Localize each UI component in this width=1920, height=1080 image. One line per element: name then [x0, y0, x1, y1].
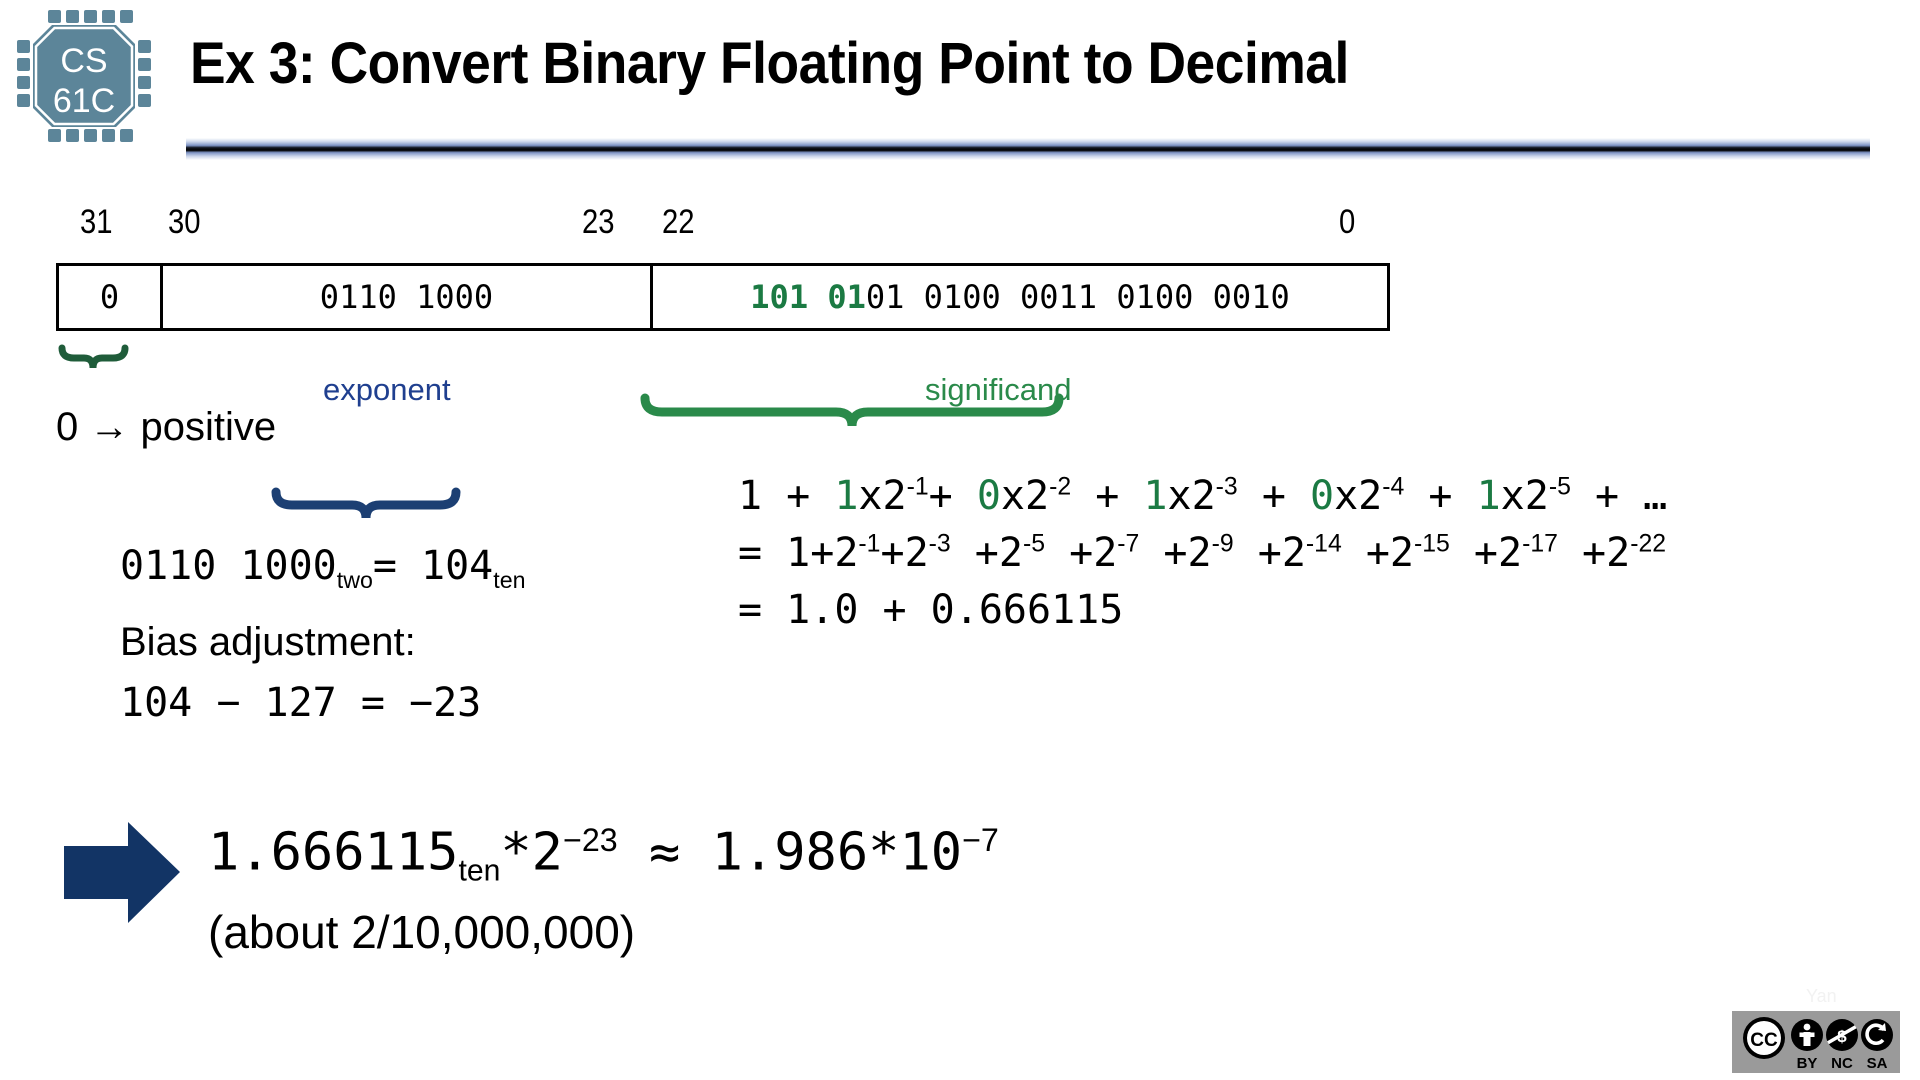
sign-interpretation-text: 0 → positive	[56, 405, 276, 450]
sig-term-20: + …	[1571, 473, 1667, 519]
result-mantissa: 1.666115	[208, 822, 458, 882]
result-arrow-icon	[62, 820, 182, 925]
sig2-exp-2: -5	[1023, 531, 1045, 558]
final-result-expression: 1.666115ten*2−23 ≈ 1.986*10−7	[208, 822, 999, 889]
author-watermark: Yan	[1806, 986, 1837, 1007]
sig-term-1: 1	[834, 473, 858, 519]
exponent-sub-ten: ten	[493, 567, 525, 593]
sig2-plus-4: +2	[1139, 530, 1211, 576]
result-exp-ten: −7	[962, 822, 999, 858]
bit-label-30: 30	[168, 203, 201, 242]
significand-expansion-line-2: = 1+2-1+2-3 +2-5 +2-7 +2-9 +2-14 +2-15 +…	[738, 530, 1666, 576]
sig2-plus-8: +2	[1558, 530, 1630, 576]
sig2-plus-1: +2	[880, 530, 928, 576]
sig2-plus-0: +2	[810, 530, 858, 576]
sig2-plus-3: +2	[1045, 530, 1117, 576]
sig-term-8: +	[1071, 473, 1143, 519]
cc-sa-label: SA	[1867, 1055, 1888, 1072]
result-times-two: *2	[500, 822, 563, 882]
sig2-plus-7: +2	[1450, 530, 1522, 576]
sig-term-5: 0	[977, 473, 1001, 519]
significand-field-label: significand	[925, 372, 1071, 408]
sig-term-4: +	[929, 473, 977, 519]
sig2-exp-4: -9	[1212, 531, 1234, 558]
sig-term-6: x2	[1001, 473, 1049, 519]
bias-adjustment-calculation: 104 − 127 = −23	[120, 680, 481, 726]
result-decimal: 1.986*10	[712, 822, 962, 882]
page-title: Ex 3: Convert Binary Floating Point to D…	[190, 30, 1349, 97]
exponent-field-label: exponent	[323, 372, 451, 408]
bit-label-31: 31	[80, 203, 113, 242]
sig-term-0: 1 +	[738, 473, 834, 519]
sig-term-10: x2	[1168, 473, 1216, 519]
sig-term-9: 1	[1143, 473, 1167, 519]
sig-term-19: -5	[1549, 474, 1571, 501]
sig2-exp-0: -1	[858, 531, 880, 558]
sig2-plus-5: +2	[1234, 530, 1306, 576]
title-divider	[186, 138, 1870, 160]
sig2-plus-2: +2	[951, 530, 1023, 576]
bitfield-row: 0 0110 1000 101 0101 0100 0011 0100 0010	[56, 263, 1390, 331]
sig-term-15: -4	[1382, 474, 1404, 501]
exponent-decimal-conversion: 0110 1000two= 104ten	[120, 543, 526, 594]
logo-line-1: CS	[60, 42, 107, 80]
sig2-exp-3: -7	[1117, 531, 1139, 558]
sig2-prefix: = 1	[738, 530, 810, 576]
significand-highlighted-bits: 101 01	[750, 278, 866, 316]
sig2-exp-6: -15	[1414, 531, 1450, 558]
bit-label-23: 23	[582, 203, 615, 242]
sig2-exp-5: -14	[1306, 531, 1342, 558]
sig2-exp-7: -17	[1522, 531, 1558, 558]
significand-remaining-bits: 01 0100 0011 0100 0010	[866, 278, 1290, 316]
logo-line-2: 61C	[53, 82, 115, 120]
bias-adjustment-label: Bias adjustment:	[120, 620, 416, 665]
creative-commons-badge: CC $ BY NC SA	[1732, 1011, 1900, 1073]
sig-term-2: x2	[858, 473, 906, 519]
exponent-binary-value: 0110 1000	[120, 543, 337, 589]
sig-term-13: 0	[1310, 473, 1334, 519]
significand-expansion-line-1: 1 + 1x2-1+ 0x2-2 + 1x2-3 + 0x2-4 + 1x2-5…	[738, 473, 1667, 519]
result-exp-two: −23	[563, 822, 618, 858]
sig2-exp-1: -3	[929, 531, 951, 558]
result-approx-sign: ≈	[649, 822, 680, 882]
cc-by-label: BY	[1797, 1055, 1818, 1072]
exponent-sub-two: two	[337, 567, 373, 593]
sig2-plus-6: +2	[1342, 530, 1414, 576]
significand-field-cell: 101 0101 0100 0011 0100 0010	[653, 266, 1387, 328]
cc-glyph: CC	[1750, 1030, 1778, 1051]
sig-term-17: 1	[1477, 473, 1501, 519]
bit-label-0: 0	[1339, 203, 1355, 242]
bit-label-22: 22	[662, 203, 695, 242]
sig-term-7: -2	[1049, 474, 1071, 501]
result-sub-ten: ten	[458, 855, 500, 888]
sig2-exp-8: -22	[1630, 531, 1666, 558]
significand-expansion-line-3: = 1.0 + 0.666115	[738, 587, 1123, 633]
sig-term-11: -3	[1216, 474, 1238, 501]
exponent-equals: = 104	[373, 543, 493, 589]
sig-term-12: +	[1238, 473, 1310, 519]
cc-nc-label: NC	[1831, 1055, 1853, 1072]
sig-term-3: -1	[907, 474, 929, 501]
slide-header: CS 61C Ex 3: Convert Binary Floating Poi…	[0, 0, 1920, 160]
final-result-note: (about 2/10,000,000)	[208, 905, 635, 959]
sig-term-16: +	[1404, 473, 1476, 519]
sig-term-18: x2	[1501, 473, 1549, 519]
sig-term-14: x2	[1334, 473, 1382, 519]
exponent-field-cell: 0110 1000	[163, 266, 653, 328]
sign-field-cell: 0	[59, 266, 163, 328]
cs61c-chip-logo: CS 61C	[14, 6, 154, 146]
